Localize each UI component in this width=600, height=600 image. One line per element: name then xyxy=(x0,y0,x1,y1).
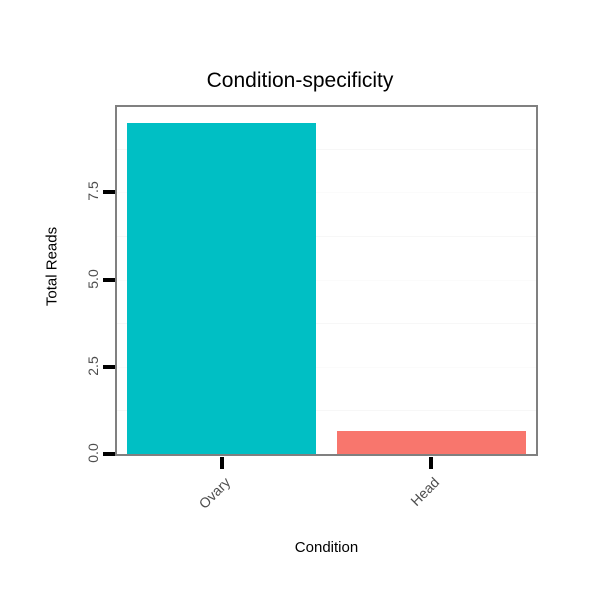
y-tick-mark xyxy=(103,190,115,194)
y-tick-label: 5.0 xyxy=(85,259,101,299)
y-axis-title: Total Reads xyxy=(44,187,61,347)
y-tick-label: 7.5 xyxy=(85,171,101,211)
bar-ovary[interactable] xyxy=(127,123,316,454)
y-tick-mark xyxy=(103,452,115,456)
chart-title: Condition-specificity xyxy=(0,68,600,94)
bar-chart: Condition-specificity Total Reads 0.02.5… xyxy=(0,0,600,600)
bar-head[interactable] xyxy=(337,431,526,454)
y-tick-mark xyxy=(103,278,115,282)
y-tick-label: 2.5 xyxy=(85,346,101,386)
x-tick-mark xyxy=(429,457,433,469)
plot-panel xyxy=(115,105,538,456)
x-axis-title: Condition xyxy=(115,539,538,556)
x-tick-mark xyxy=(220,457,224,469)
y-tick-mark xyxy=(103,365,115,369)
y-tick-label: 0.0 xyxy=(85,433,101,473)
